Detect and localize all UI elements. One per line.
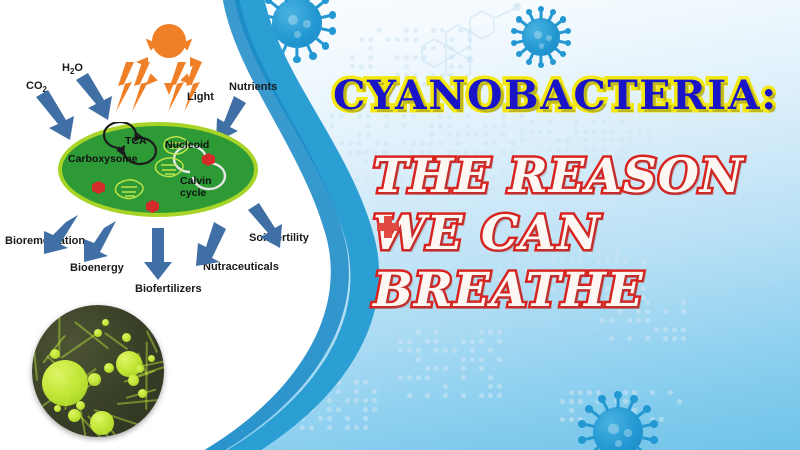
subtitle-line-1: THE REASON [373,148,793,205]
label-carboxysome: Carboxysome [68,153,137,165]
subtitle-line-2: WE CAN [373,205,793,262]
cyanobacteria-metabolism-diagram: CO2 H2O Light Nutrients Bioremediation B… [0,0,330,310]
infographic-slide: CO2 H2O Light Nutrients Bioremediation B… [0,0,800,450]
label-tca: TCA [125,135,147,147]
page-title: CYANOBACTERIA: [333,72,778,119]
medical-cross-icon [377,216,399,238]
label-nucleoid: Nucleoid [165,139,209,151]
label-calvin-cycle: Calvincycle [180,175,212,199]
virus-icon-top-right [510,6,572,68]
page-subtitle: THE REASON WE CAN BREATHE [373,148,793,319]
subtitle-line-3: BREATHE [373,262,793,319]
cyanobacteria-micrograph [32,305,164,437]
virus-icon-bottom-right [578,392,658,450]
